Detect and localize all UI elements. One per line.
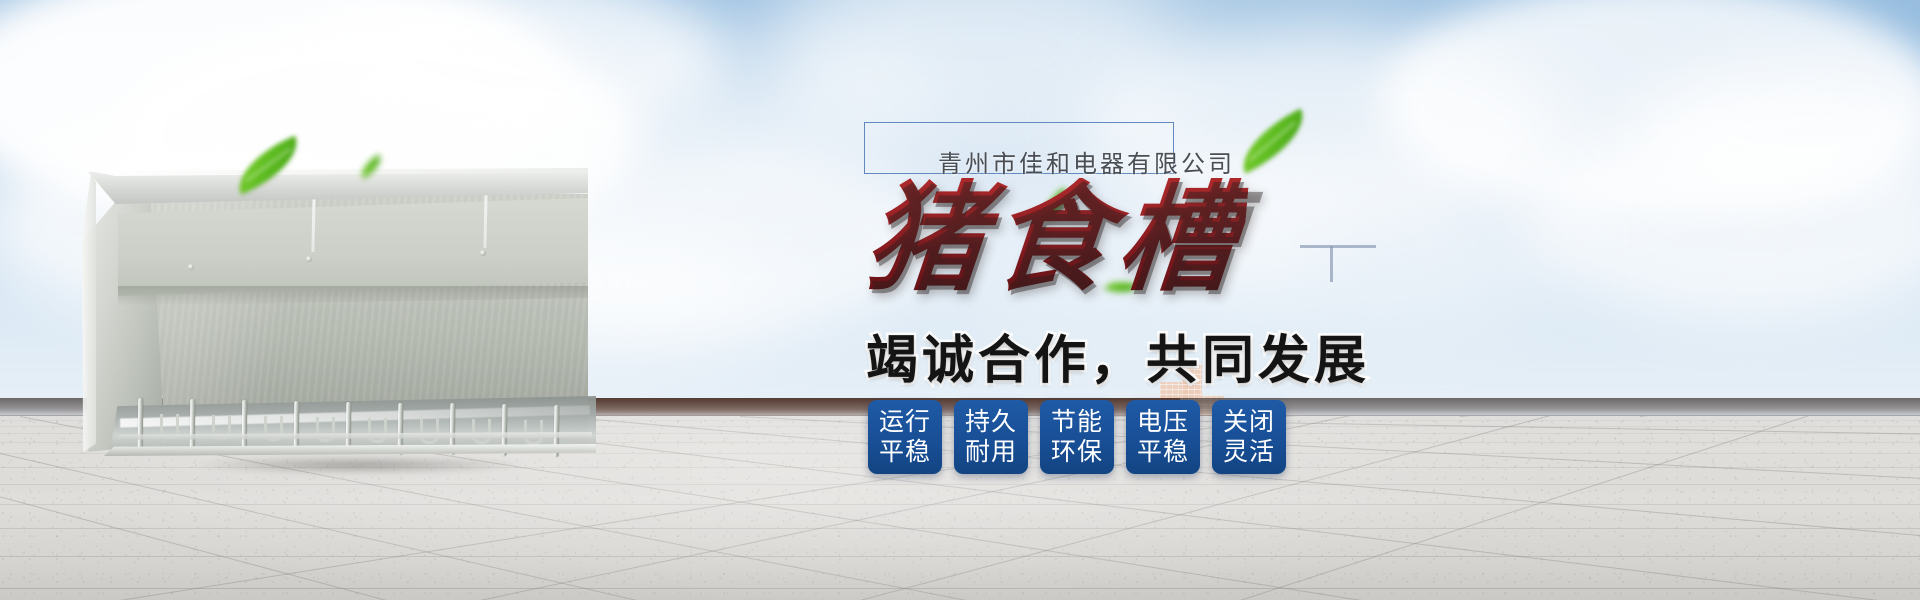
promo-banner: 青州市佳和电器有限公司 猪食槽 猪食槽 竭诚合作，共同发展 运行平稳持久耐用节能…	[0, 0, 1920, 600]
feature-badge-line2: 耐用	[965, 437, 1017, 468]
feature-badge-line1: 关闭	[1223, 407, 1275, 438]
feature-badge-line1: 运行	[879, 407, 931, 438]
feature-badge-line2: 灵活	[1223, 437, 1275, 468]
trough-inner-back-wall	[118, 198, 588, 296]
product-image-pig-feeding-trough	[60, 160, 620, 500]
trough-hook	[472, 419, 491, 444]
trough-hook	[368, 418, 387, 443]
sub-title-slogan: 竭诚合作，共同发展	[866, 318, 1370, 393]
product-shadow	[124, 452, 594, 478]
trough-rivet	[480, 250, 486, 256]
trough-divider-bar	[138, 398, 144, 450]
feature-badge-3[interactable]: 节能环保	[1040, 400, 1114, 474]
feature-badge-1[interactable]: 运行平稳	[868, 400, 942, 474]
feature-badge-5[interactable]: 关闭灵活	[1212, 400, 1286, 474]
feature-badge-line2: 环保	[1051, 437, 1103, 468]
trough-divider-bar	[294, 401, 300, 453]
feature-badge-line1: 节能	[1051, 407, 1103, 438]
trough-divider-bar	[190, 399, 196, 451]
feature-badge-list: 运行平稳持久耐用节能环保电压平稳关闭灵活	[868, 400, 1286, 474]
trough-hook	[420, 419, 439, 444]
feature-badge-line2: 平稳	[879, 437, 931, 468]
feature-badge-line2: 平稳	[1137, 437, 1189, 468]
feature-badge-line1: 电压	[1137, 407, 1189, 438]
trough-divider-bar	[242, 400, 248, 452]
banner-text-block: 青州市佳和电器有限公司 猪食槽 猪食槽 竭诚合作，共同发展 运行平稳持久耐用节能…	[850, 100, 1490, 570]
feature-badge-line1: 持久	[965, 407, 1017, 438]
feature-badge-2[interactable]: 持久耐用	[954, 400, 1028, 474]
feature-badge-4[interactable]: 电压平稳	[1126, 400, 1200, 474]
trough-left-edge-highlight	[82, 174, 96, 452]
trough-rivet	[306, 256, 312, 262]
main-title: 猪食槽	[861, 178, 1250, 298]
trough-rivet	[188, 264, 194, 270]
